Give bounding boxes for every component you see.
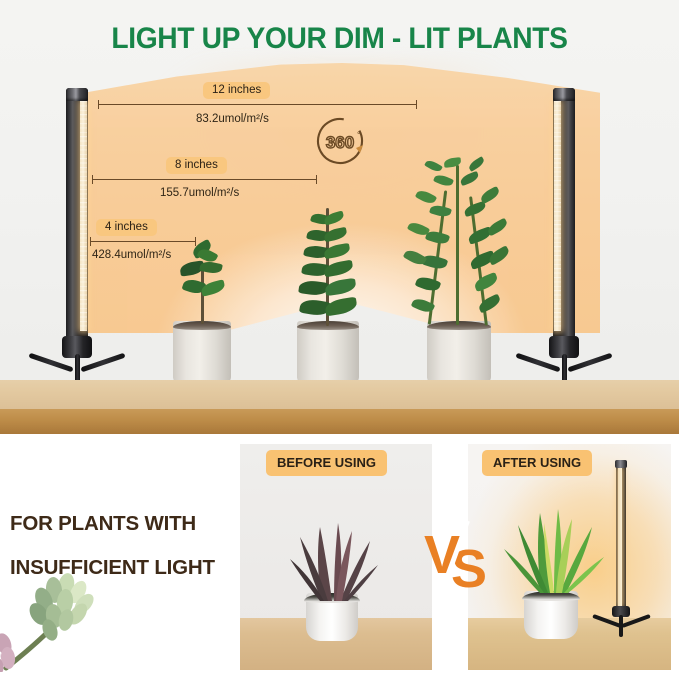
pot-rim (427, 321, 491, 330)
succulent-head-pink (0, 631, 16, 672)
lamp-led-strip (80, 101, 87, 331)
measure-tick-start (90, 237, 91, 246)
lamp-led-strip (554, 101, 561, 331)
shelf-front-edge (0, 409, 679, 434)
measure-tick-end (416, 100, 417, 109)
measure-ppfd-value: 83.2umol/m²/s (196, 113, 269, 125)
before-panel: BEFORE USING (240, 444, 432, 670)
hero-section: LIGHT UP YOUR DIM - LIT PLANTS 12 inches… (0, 0, 679, 434)
measure-tick-start (92, 175, 93, 184)
lamp-cap (66, 88, 88, 101)
measure-tick-end (316, 175, 317, 184)
slogan-line-1: FOR PLANTS WITH (10, 502, 240, 546)
succulent-illustration (0, 552, 134, 672)
measure-line (98, 104, 417, 105)
snake-plant-leaves (290, 523, 378, 601)
pot-concrete (173, 321, 231, 383)
measure-distance-label: 4 inches (96, 219, 157, 236)
after-badge: AFTER USING (482, 450, 592, 476)
before-badge: BEFORE USING (266, 450, 387, 476)
shelf-surface (0, 380, 679, 409)
360-badge-degree: ° (357, 130, 361, 140)
lamp-cap (553, 88, 575, 101)
succulent-head-green (26, 572, 98, 643)
measure-line (90, 241, 196, 242)
measure-line (92, 179, 317, 180)
snake-plant-leaves (504, 509, 604, 593)
plant-stem (456, 165, 459, 325)
measure-tick-start (98, 100, 99, 109)
pot-concrete (297, 321, 359, 383)
measure-ppfd-value: 155.7umol/m²/s (160, 187, 239, 199)
lamp-led-strip (618, 468, 622, 606)
pot-concrete (427, 321, 491, 383)
after-panel: AFTER USING (468, 444, 671, 670)
measure-distance-label: 12 inches (203, 82, 270, 99)
360-badge-label: 360 (326, 133, 354, 152)
360-degree-icon: 360 ° (311, 112, 369, 170)
lamp-cap (615, 460, 627, 468)
measure-distance-label: 8 inches (166, 157, 227, 174)
page-title: LIGHT UP YOUR DIM - LIT PLANTS (20, 22, 658, 56)
measure-ppfd-value: 428.4umol/m²/s (92, 249, 171, 261)
vs-separator: V S (424, 519, 490, 595)
comparison-section: FOR PLANTS WITH INSUFFICIENT LIGHT (0, 434, 679, 679)
